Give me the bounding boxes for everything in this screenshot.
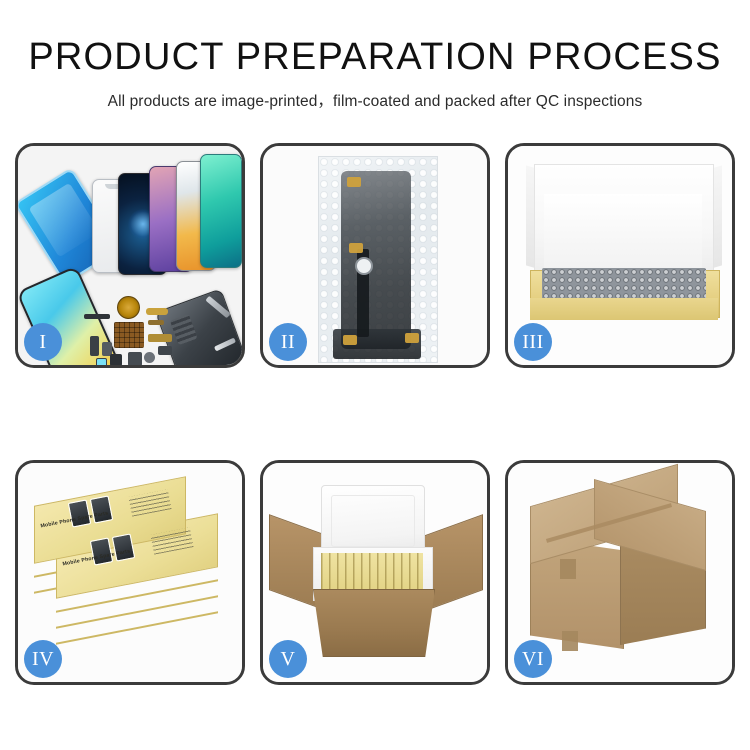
packed-boxes-icon bbox=[321, 553, 423, 591]
spare-part-icon bbox=[144, 352, 155, 363]
gold-connector-icon bbox=[405, 333, 419, 343]
process-step-panel-6[interactable]: VI bbox=[505, 460, 735, 685]
step-badge-4: IV bbox=[24, 640, 62, 678]
spare-part-icon bbox=[158, 346, 172, 355]
spare-part-icon bbox=[128, 352, 142, 365]
spare-part-icon bbox=[96, 358, 107, 365]
gold-connector-icon bbox=[349, 243, 363, 253]
spare-part-icon bbox=[148, 320, 164, 325]
step-badge-1: I bbox=[24, 323, 62, 361]
process-step-panel-2[interactable]: II bbox=[260, 143, 490, 368]
carton-tape-patch-icon bbox=[562, 631, 578, 651]
teal-phone-icon bbox=[200, 154, 242, 268]
spare-part-icon bbox=[110, 354, 122, 365]
foam-sheet-icon bbox=[544, 194, 702, 270]
stacked-box-slab bbox=[56, 595, 218, 628]
camera-hole-icon bbox=[355, 257, 373, 275]
stacked-box-slab bbox=[56, 611, 218, 644]
gold-connector-icon bbox=[347, 177, 361, 187]
process-steps-grid: I II bbox=[15, 143, 735, 685]
process-step-panel-4[interactable]: Mobile Phone Spare Parts Mobile Phone Sp… bbox=[15, 460, 245, 685]
gold-connector-icon bbox=[343, 335, 357, 345]
carton-tape-patch-icon bbox=[560, 559, 576, 579]
kraft-box-front-icon bbox=[530, 298, 718, 320]
spare-part-icon bbox=[90, 336, 99, 356]
speaker-coil-icon bbox=[117, 296, 140, 319]
spare-part-icon bbox=[148, 334, 172, 342]
wrapped-screen-icon bbox=[341, 171, 411, 349]
step-badge-5: V bbox=[269, 640, 307, 678]
bubble-wrap-fill-icon bbox=[542, 268, 706, 300]
step-badge-2: II bbox=[269, 323, 307, 361]
step-badge-6: VI bbox=[514, 640, 552, 678]
process-step-panel-3[interactable]: III bbox=[505, 143, 735, 368]
box-stack-icon: Mobile Phone Spare Parts Mobile Phone Sp… bbox=[26, 485, 238, 665]
spare-part-icon bbox=[146, 308, 168, 315]
process-step-panel-1[interactable]: I bbox=[15, 143, 245, 368]
page-title: PRODUCT PREPARATION PROCESS bbox=[0, 38, 750, 78]
page-header: PRODUCT PREPARATION PROCESS All products… bbox=[0, 0, 750, 111]
page-subtitle: All products are image-printed，film-coat… bbox=[0, 89, 750, 111]
bubble-wrap-bag-icon bbox=[318, 156, 438, 363]
spare-part-icon bbox=[84, 314, 110, 319]
process-step-panel-5[interactable]: V bbox=[260, 460, 490, 685]
carton-body-icon bbox=[313, 589, 435, 657]
step-badge-3: III bbox=[514, 323, 552, 361]
chip-board-icon bbox=[114, 322, 144, 348]
